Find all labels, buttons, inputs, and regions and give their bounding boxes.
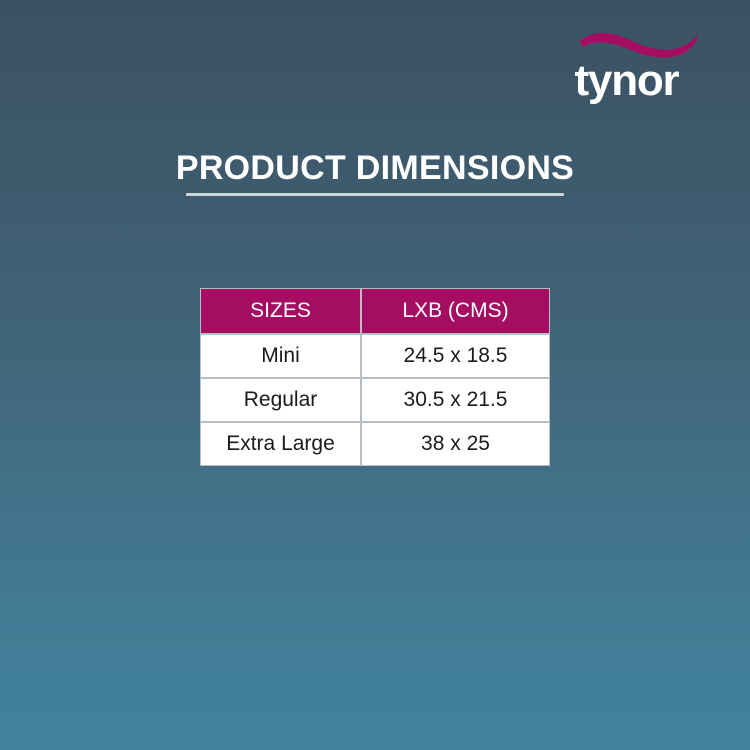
table-row: Mini 24.5 x 18.5 bbox=[200, 334, 550, 378]
column-header-lxb: LXB (CMS) bbox=[361, 288, 550, 334]
cell-dimensions: 24.5 x 18.5 bbox=[361, 334, 550, 378]
column-header-sizes: SIZES bbox=[200, 288, 361, 334]
tynor-logo: tynor bbox=[549, 30, 704, 105]
page-title: PRODUCT DIMENSIONS bbox=[0, 148, 750, 188]
dimensions-table-container: SIZES LXB (CMS) Mini 24.5 x 18.5 Regular… bbox=[200, 288, 550, 466]
dimensions-table: SIZES LXB (CMS) Mini 24.5 x 18.5 Regular… bbox=[200, 288, 550, 466]
table-row: Extra Large 38 x 25 bbox=[200, 422, 550, 466]
table-body: Mini 24.5 x 18.5 Regular 30.5 x 21.5 Ext… bbox=[200, 334, 550, 466]
tynor-wordmark: tynor bbox=[549, 58, 704, 104]
cell-size: Regular bbox=[200, 378, 361, 422]
product-dimensions-page: tynor PRODUCT DIMENSIONS SIZES LXB (CMS)… bbox=[0, 0, 750, 750]
cell-size: Mini bbox=[200, 334, 361, 378]
cell-dimensions: 38 x 25 bbox=[361, 422, 550, 466]
table-header: SIZES LXB (CMS) bbox=[200, 288, 550, 334]
cell-size: Extra Large bbox=[200, 422, 361, 466]
table-header-row: SIZES LXB (CMS) bbox=[200, 288, 550, 334]
title-block: PRODUCT DIMENSIONS bbox=[0, 148, 750, 196]
cell-dimensions: 30.5 x 21.5 bbox=[361, 378, 550, 422]
title-underline-rule bbox=[186, 193, 564, 196]
table-row: Regular 30.5 x 21.5 bbox=[200, 378, 550, 422]
